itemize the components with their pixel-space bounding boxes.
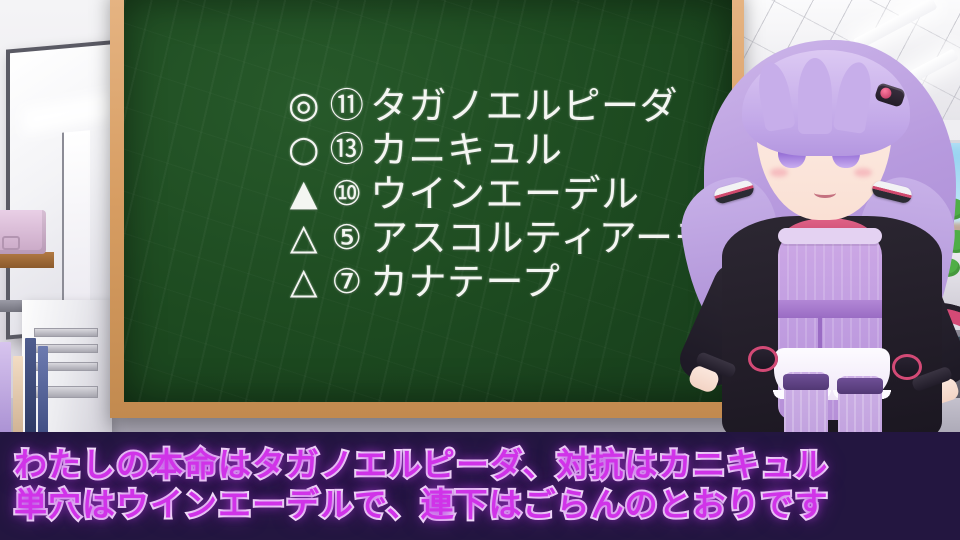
bookshelf-books xyxy=(0,330,48,434)
horse-name: カナテープ xyxy=(370,262,560,303)
whiteboard-glare xyxy=(21,92,115,135)
pink-equipment-box xyxy=(0,210,46,254)
horse-name: タガノエルピーダ xyxy=(370,86,678,127)
prediction-row: △ ⑦ カナテープ xyxy=(284,262,726,303)
horse-number-badge: ⑪ xyxy=(326,88,368,125)
prediction-row: ○ ⑬ カニキュル xyxy=(284,130,726,171)
horse-number-badge: ⑤ xyxy=(326,220,368,257)
chalkboard-frame: ◎ ⑪ タガノエルピーダ ○ ⑬ カニキュル ▲ ⑩ ウインエーデル △ ⑤ xyxy=(110,0,744,418)
horse-number-badge: ⑩ xyxy=(326,176,368,213)
subtitle-line-1: わたしの本命はタガノエルピーダ、対抗はカニキュル xyxy=(14,446,946,484)
double-circle-icon: ◎ xyxy=(284,87,324,126)
mouth xyxy=(814,188,836,198)
dress-frill xyxy=(778,228,882,244)
horse-name: ウインエーデル xyxy=(370,174,640,215)
triangle-icon: △ xyxy=(284,263,324,302)
prediction-row: ◎ ⑪ タガノエルピーダ xyxy=(284,86,726,127)
horse-number-badge: ⑦ xyxy=(326,264,368,301)
dress-waistband xyxy=(778,300,882,318)
horse-number-badge: ⑬ xyxy=(326,132,368,169)
subtitle-line-2: 単穴はウインエーデルで、連下はごらんのとおりです xyxy=(14,486,946,524)
scene-root: ◎ ⑪ タガノエルピーダ ○ ⑬ カニキュル ▲ ⑩ ウインエーデル △ ⑤ xyxy=(0,0,960,540)
cheek-blush-left xyxy=(770,168,788,177)
circle-icon: ○ xyxy=(284,131,324,170)
subtitle-bar: わたしの本命はタガノエルピーダ、対抗はカニキュル 単穴はウインエーデルで、連下は… xyxy=(0,432,960,540)
cheek-blush-right xyxy=(854,168,872,177)
prediction-list: ◎ ⑪ タガノエルピーダ ○ ⑬ カニキュル ▲ ⑩ ウインエーデル △ ⑤ xyxy=(284,86,726,303)
filled-triangle-icon: ▲ xyxy=(284,175,324,214)
chalkboard-surface: ◎ ⑪ タガノエルピーダ ○ ⑬ カニキュル ▲ ⑩ ウインエーデル △ ⑤ xyxy=(124,0,732,402)
character-sprite xyxy=(686,28,960,440)
horse-name: カニキュル xyxy=(370,130,563,171)
horse-name: アスコルティアーモ xyxy=(370,218,712,259)
subtitle-text-block: わたしの本命はタガノエルピーダ、対抗はカニキュル 単穴はウインエーデルで、連下は… xyxy=(14,446,946,525)
wooden-shelf xyxy=(0,252,54,268)
bang-strand xyxy=(798,58,832,134)
prediction-row: △ ⑤ アスコルティアーモ xyxy=(284,218,726,259)
thighhigh-band-right xyxy=(837,378,883,394)
hip-accessory-left xyxy=(748,346,778,372)
prediction-row: ▲ ⑩ ウインエーデル xyxy=(284,174,726,215)
triangle-icon: △ xyxy=(284,219,324,258)
thighhigh-band-left xyxy=(783,374,829,390)
